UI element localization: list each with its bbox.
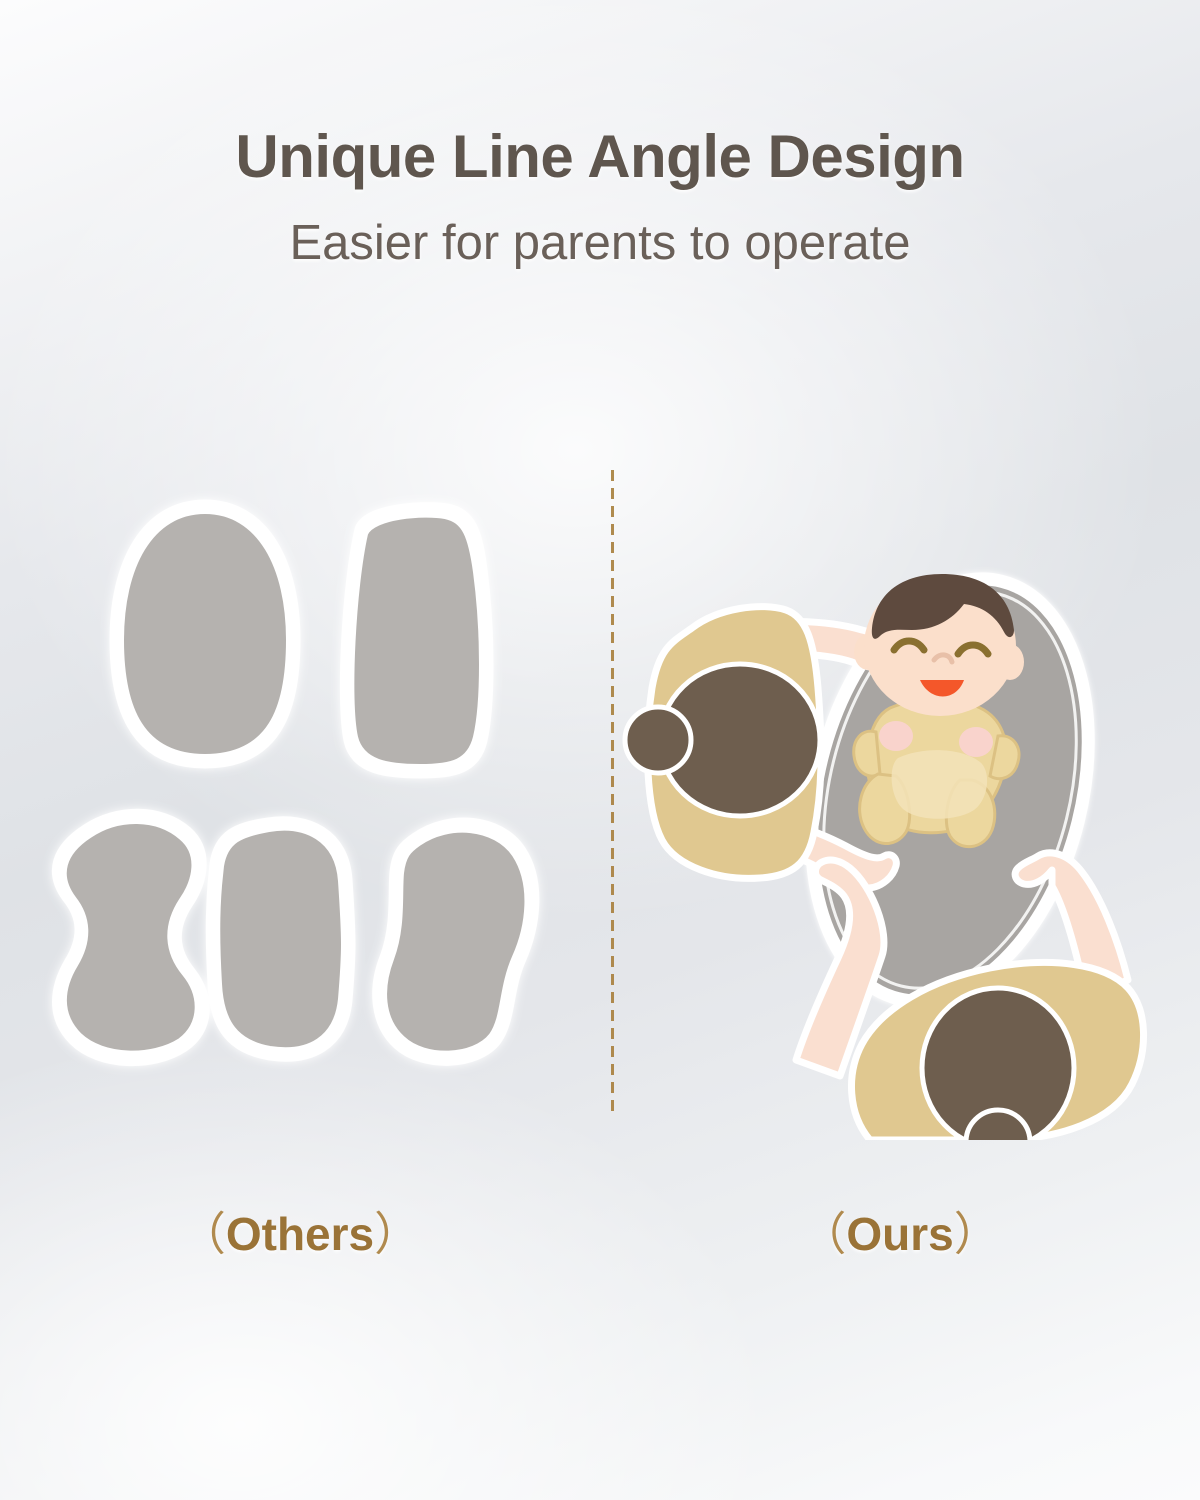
others-shape-group [60,508,530,1058]
caption-ours: （Ours） [600,1198,1200,1264]
caption-others-label: Others [226,1208,374,1260]
shape-capsule-blob [214,825,347,1053]
caption-ours-open-paren: （ [800,1208,846,1260]
ours-illustration-svg [600,440,1200,1140]
baby-arm-left [854,731,880,776]
header: Unique Line Angle Design Easier for pare… [0,125,1200,269]
baby-shoulder-dot-left [879,721,913,751]
caption-others-close-paren: ） [374,1208,420,1260]
caption-others: （Others） [0,1198,600,1264]
ours-panel [600,440,1200,1140]
shape-rounded-trapezoid-blob [348,511,485,770]
others-shapes-svg [0,440,600,1140]
caption-ours-close-paren: ） [954,1208,1000,1260]
caption-others-open-paren: （ [180,1208,226,1260]
baby-body [854,699,1019,846]
page-title: Unique Line Angle Design [0,125,1200,188]
parent-bottom-head [922,988,1074,1140]
parent-top-hair-bun [625,707,691,773]
shape-wavy-peanut-blob [60,817,201,1057]
baby-shoulder-dot-right [959,727,993,757]
product-feature-graphic: Unique Line Angle Design Easier for pare… [0,0,1200,1500]
shape-oval-blob-tall [118,508,292,760]
baby-belly [892,750,988,819]
page-subtitle: Easier for parents to operate [0,218,1200,269]
others-panel [0,440,600,1140]
caption-ours-label: Ours [846,1208,953,1260]
shape-bean-blob [381,826,531,1057]
